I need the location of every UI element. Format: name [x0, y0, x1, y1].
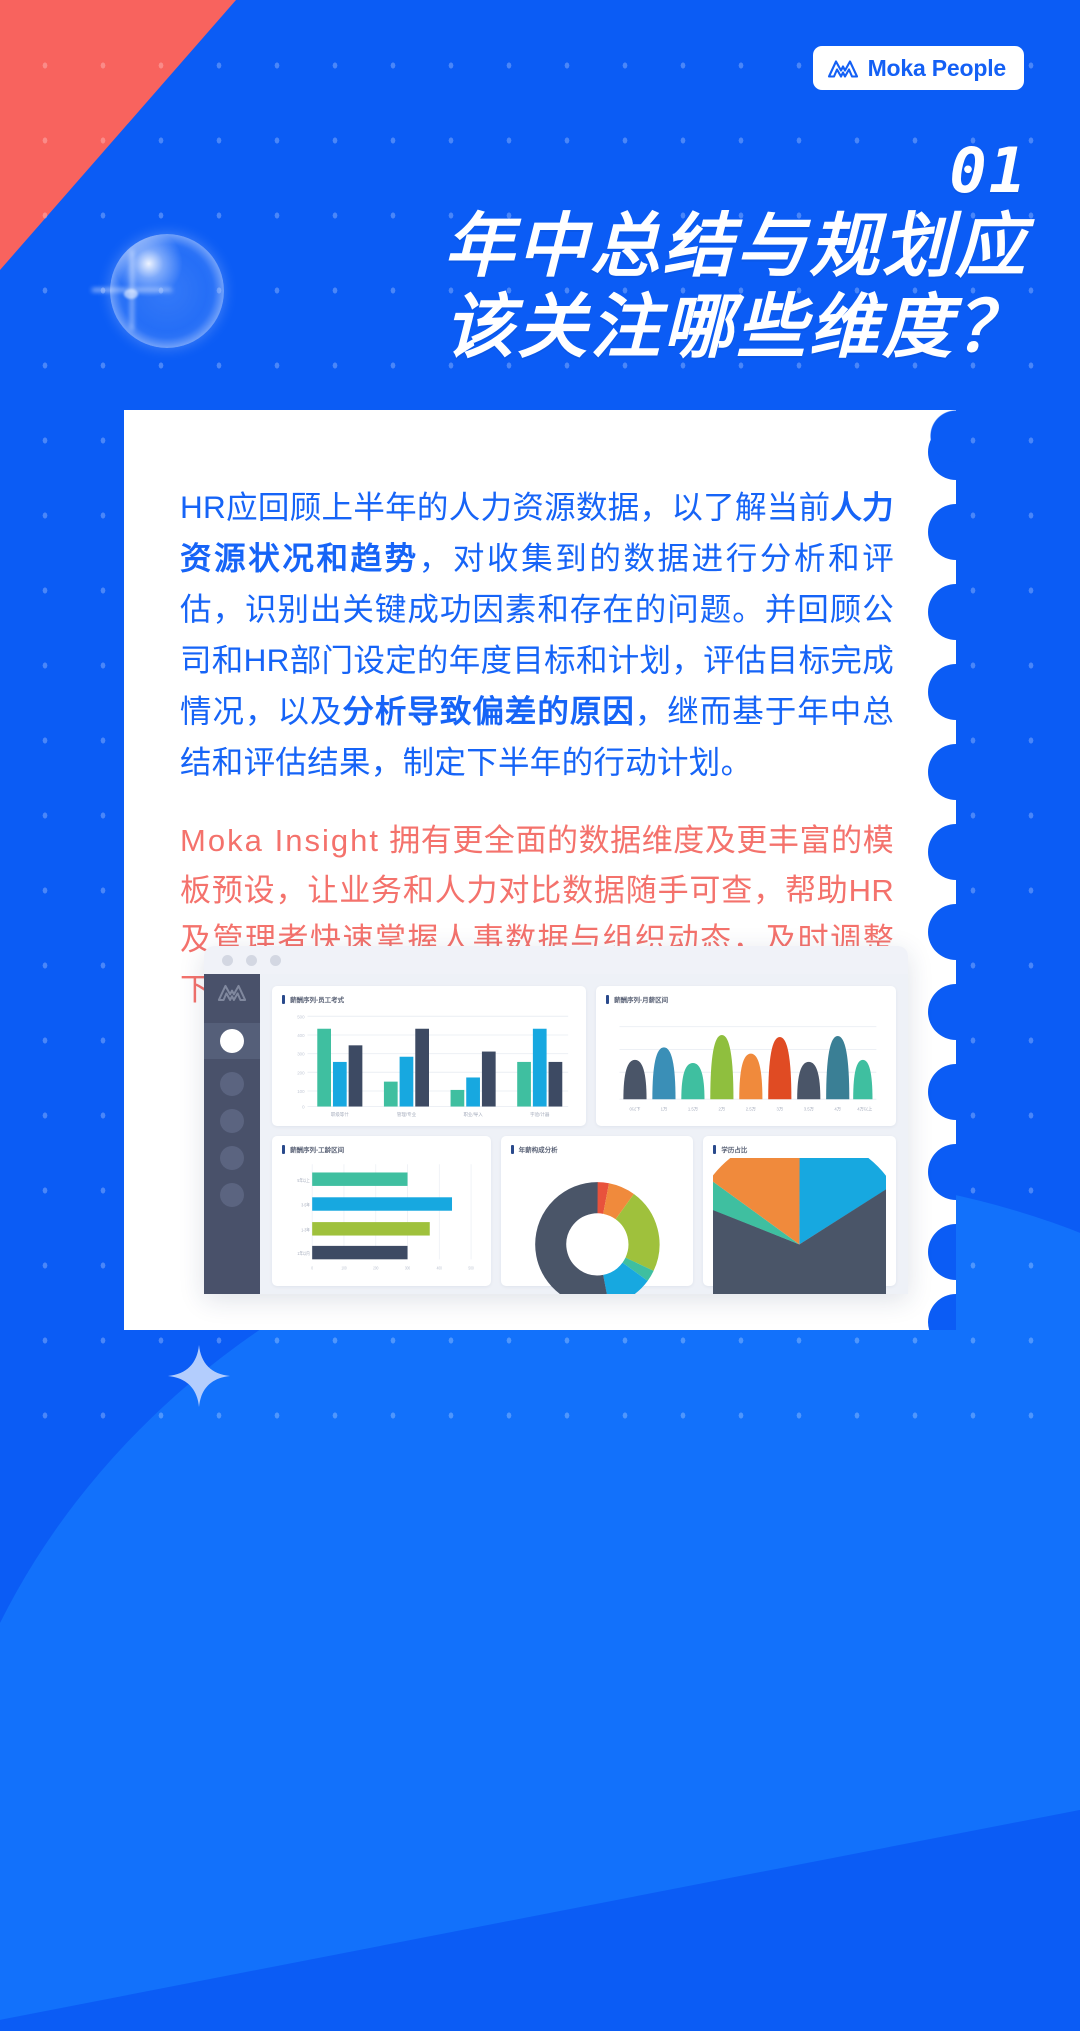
- dashboard-row-bottom: 薪酬序列-工龄区间: [272, 1136, 896, 1286]
- paragraph1-bold-2: 分析导致偏差的原因: [342, 693, 634, 729]
- dashboard-titlebar: [204, 946, 908, 974]
- panel-title-text: 学历占比: [721, 1144, 747, 1154]
- dashboard-body: 薪酬序列-员工考式: [204, 974, 908, 1294]
- panel-title: 年薪构成分析: [511, 1144, 684, 1154]
- window-maximize-dot[interactable]: [270, 955, 281, 966]
- sidebar-dot-icon: [220, 1029, 244, 1053]
- page-title-number: 01: [0, 140, 1028, 202]
- brand-logo-text: Moka People: [868, 55, 1006, 82]
- panel-title-accent-bar: [282, 1145, 285, 1154]
- panel-title-accent-bar: [606, 995, 609, 1004]
- svg-text:1.5万: 1.5万: [688, 1107, 699, 1113]
- dashboard-row-top: 薪酬序列-员工考式: [272, 986, 896, 1126]
- panel-comp-structure[interactable]: 年薪构成分析: [501, 1136, 694, 1286]
- svg-text:100: 100: [297, 1089, 305, 1094]
- panel-title: 学历占比: [713, 1144, 886, 1154]
- dashboard-sidebar: [204, 974, 260, 1294]
- svg-text:4万: 4万: [834, 1107, 841, 1113]
- panel-title: 薪酬序列-员工考式: [282, 994, 576, 1004]
- panel-title-text: 薪酬序列-员工考式: [290, 994, 344, 1004]
- panel-title-text: 年薪构成分析: [519, 1144, 558, 1154]
- dashboard-main: 薪酬序列-员工考式: [260, 974, 908, 1294]
- svg-text:3-5年: 3-5年: [301, 1201, 310, 1208]
- panel-employment-type[interactable]: 薪酬序列-员工考式: [272, 986, 586, 1126]
- panel-education[interactable]: 学历占比: [703, 1136, 896, 1286]
- product-name: Moka Insight: [180, 823, 380, 858]
- panel-title-accent-bar: [282, 995, 285, 1004]
- panel-salary-range[interactable]: 薪酬序列-月薪区间: [596, 986, 896, 1126]
- svg-text:管理/专业: 管理/专业: [397, 1111, 417, 1118]
- paragraph1-segment-1: HR应回顾上半年的人力资源数据，以了解当前: [180, 489, 830, 525]
- panel-title: 薪酬序列-工龄区间: [282, 1144, 481, 1154]
- sidebar-item-settings[interactable]: [220, 1183, 244, 1207]
- sidebar-item-reports[interactable]: [220, 1072, 244, 1096]
- panel-title: 薪酬序列-月薪区间: [606, 994, 886, 1004]
- donut-chart: [511, 1158, 684, 1294]
- svg-text:0以下: 0以下: [630, 1107, 641, 1113]
- svg-text:0: 0: [311, 1266, 313, 1270]
- body-paragraph-primary: HR应回顾上半年的人力资源数据，以了解当前人力资源状况和趋势，对收集到的数据进行…: [180, 482, 894, 788]
- dashboard-window: 薪酬序列-员工考式: [204, 946, 908, 1294]
- svg-text:1年以内: 1年以内: [297, 1250, 309, 1257]
- dashboard-screenshot: 薪酬序列-员工考式: [204, 946, 908, 1294]
- window-minimize-dot[interactable]: [246, 955, 257, 966]
- svg-text:500: 500: [297, 1014, 305, 1019]
- sidebar-moka-logo-icon: [217, 982, 247, 1002]
- svg-text:300: 300: [297, 1052, 305, 1057]
- salary-range-bell-chart: 0以下 1万 1.5万 2万 2.5万 3万 3.5万 4万 4万以上: [606, 1008, 886, 1120]
- page-title-line-1: 年中总结与规划应: [0, 206, 1028, 287]
- brand-logo[interactable]: Moka People: [813, 46, 1024, 90]
- svg-text:200: 200: [297, 1070, 305, 1075]
- svg-text:300: 300: [405, 1266, 410, 1270]
- sidebar-item-analytics[interactable]: [220, 1146, 244, 1170]
- svg-text:2.5万: 2.5万: [746, 1107, 757, 1113]
- page-title: 01 年中总结与规划应 该关注哪些维度？: [0, 140, 1028, 368]
- sidebar-item-dashboard[interactable]: [204, 1023, 260, 1059]
- svg-text:500: 500: [468, 1266, 473, 1270]
- svg-text:3万: 3万: [776, 1107, 783, 1113]
- svg-text:400: 400: [437, 1266, 442, 1270]
- svg-text:5年以上: 5年以上: [297, 1176, 309, 1183]
- svg-text:1万: 1万: [661, 1107, 668, 1113]
- svg-text:3.5万: 3.5万: [804, 1107, 815, 1113]
- window-close-dot[interactable]: [222, 955, 233, 966]
- svg-text:职级等什: 职级等什: [331, 1111, 349, 1118]
- grouped-bar-chart: 500400 300200 1000: [282, 1008, 576, 1120]
- svg-text:0: 0: [302, 1104, 305, 1109]
- panel-salary-span[interactable]: 薪酬序列-工龄区间: [272, 1136, 491, 1286]
- horizontal-bar-chart: 5年以上 3-5年 1-3年 1年以内 0100 200300 400500: [282, 1158, 481, 1280]
- svg-text:4万以上: 4万以上: [857, 1105, 873, 1112]
- sidebar-item-people[interactable]: [220, 1109, 244, 1133]
- svg-text:1-3年: 1-3年: [301, 1226, 310, 1233]
- panel-title-accent-bar: [713, 1145, 716, 1154]
- pie-chart: [713, 1158, 886, 1294]
- svg-text:200: 200: [373, 1266, 378, 1270]
- four-point-sparkle-icon: [168, 1345, 230, 1407]
- svg-text:400: 400: [297, 1033, 305, 1038]
- moka-mountain-logo-icon: [827, 57, 859, 79]
- panel-title-accent-bar: [511, 1145, 514, 1154]
- panel-title-text: 薪酬序列-月薪区间: [614, 994, 668, 1004]
- page-title-line-2: 该关注哪些维度？: [0, 287, 1028, 368]
- svg-text:职业/导入: 职业/导入: [463, 1111, 483, 1118]
- svg-text:字验/计器: 字验/计器: [530, 1111, 550, 1118]
- panel-title-text: 薪酬序列-工龄区间: [290, 1144, 344, 1154]
- svg-text:2万: 2万: [719, 1107, 726, 1113]
- svg-text:100: 100: [341, 1266, 346, 1270]
